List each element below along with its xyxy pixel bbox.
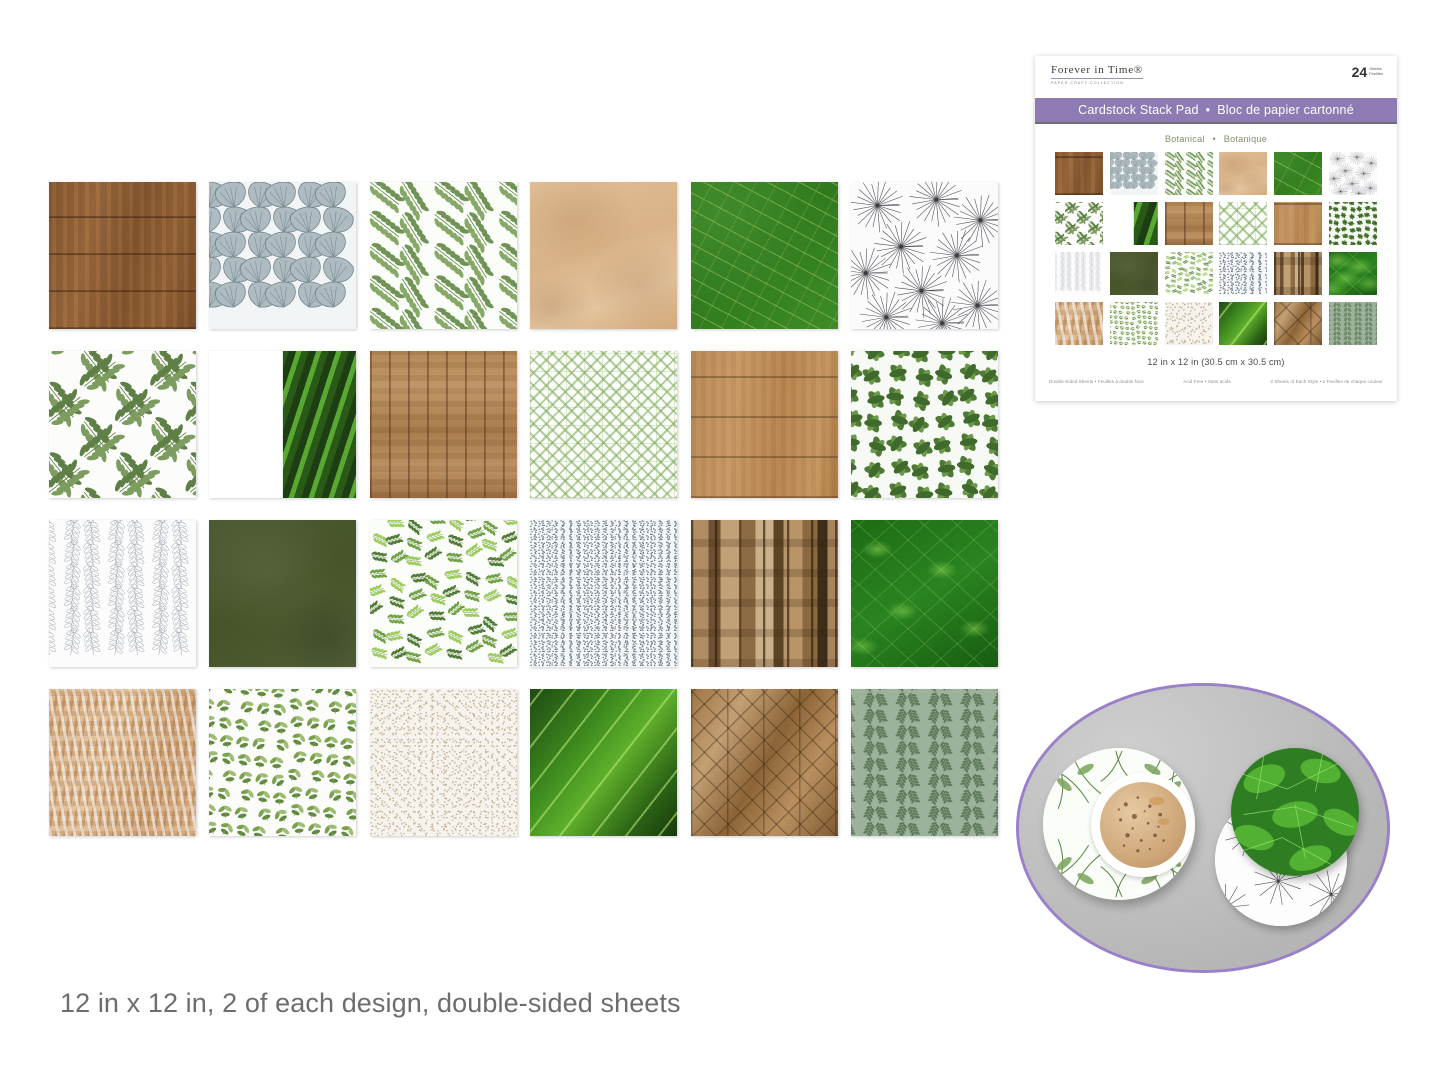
texture-dandelion — [1329, 152, 1377, 195]
botanical-saucer — [1043, 748, 1195, 900]
texture-wood-herring — [691, 689, 838, 836]
package-mini-swatch — [1055, 152, 1103, 195]
paper-swatch — [370, 689, 517, 836]
coffee-bubbles — [1100, 782, 1186, 868]
texture-speck-white — [1219, 252, 1267, 295]
texture-ginkgo — [209, 182, 356, 329]
paper-swatch — [691, 182, 838, 329]
banner-title-en: Cardstock Stack Pad — [1078, 103, 1199, 117]
texture-branches — [370, 182, 517, 329]
theme-en: Botanical — [1165, 134, 1205, 144]
product-package: Forever in Time® PAPER CRAFT COLLECTION … — [1035, 56, 1397, 401]
package-mini-grid — [1055, 152, 1377, 345]
texture-rattan — [1055, 302, 1103, 345]
texture-wood-barn — [1274, 252, 1322, 295]
package-mini-swatch — [1110, 202, 1158, 245]
package-mini-swatch — [1165, 302, 1213, 345]
texture-palm-frond — [209, 351, 356, 498]
texture-dandelion — [851, 182, 998, 329]
paper-swatch — [370, 520, 517, 667]
package-mini-swatch — [1274, 252, 1322, 295]
texture-lineart-grey — [49, 520, 196, 667]
sheet-count-label: SheetsFeuilles — [1369, 65, 1383, 76]
theme-separator: • — [1213, 134, 1216, 144]
footer-double-sided: Double-Sided Sheets • Feuilles à double … — [1049, 379, 1144, 384]
package-mini-swatch — [1055, 302, 1103, 345]
texture-speck-cream — [370, 689, 517, 836]
sheet-count-badge: 24 SheetsFeuilles — [1352, 65, 1383, 79]
texture-palm-frond — [1110, 202, 1158, 245]
package-mini-swatch — [1055, 202, 1103, 245]
paper-swatch — [691, 520, 838, 667]
texture-wood-v — [370, 351, 517, 498]
paper-swatch — [209, 351, 356, 498]
paper-swatch — [851, 689, 998, 836]
banner-separator: • — [1206, 103, 1211, 117]
texture-wood-herring — [1274, 302, 1322, 345]
paper-swatch — [209, 182, 356, 329]
texture-speck-cream — [1165, 302, 1213, 345]
paper-swatch — [530, 182, 677, 329]
paper-swatch — [370, 182, 517, 329]
texture-ginkgo — [1110, 152, 1158, 195]
texture-fern-sprigs — [1165, 252, 1213, 295]
texture-foliage — [1329, 202, 1377, 245]
package-mini-swatch — [1219, 152, 1267, 195]
texture-wood-v — [1165, 202, 1213, 245]
paper-swatch — [209, 689, 356, 836]
paper-swatch — [851, 520, 998, 667]
texture-green-tonal — [851, 520, 998, 667]
package-mini-swatch — [1219, 302, 1267, 345]
texture-damask — [1219, 202, 1267, 245]
paper-swatch — [691, 351, 838, 498]
texture-kraft — [1219, 152, 1267, 195]
texture-green-tonal — [1329, 252, 1377, 295]
texture-leafspot — [1110, 302, 1158, 345]
paper-swatch — [49, 689, 196, 836]
brand-tagline: PAPER CRAFT COLLECTION — [1051, 81, 1143, 85]
paper-swatch — [49, 351, 196, 498]
texture-wood-h-dark — [1055, 152, 1103, 195]
package-mini-swatch — [1329, 302, 1377, 345]
paper-swatch — [370, 351, 517, 498]
texture-leaf-macro — [1274, 152, 1322, 195]
coffee-cup — [1091, 773, 1195, 877]
texture-rattan — [49, 689, 196, 836]
texture-leafspot — [209, 689, 356, 836]
package-size-text: 12 in x 12 in (30.5 cm x 30.5 cm) — [1035, 357, 1397, 367]
texture-lineart-grey — [1055, 252, 1103, 295]
package-mini-swatch — [1274, 202, 1322, 245]
package-mini-swatch — [1219, 202, 1267, 245]
texture-sprigs — [49, 351, 196, 498]
package-mini-swatch — [1055, 252, 1103, 295]
texture-wood-barn — [691, 520, 838, 667]
texture-sage-fern — [1329, 302, 1377, 345]
theme-fr: Botanique — [1224, 134, 1267, 144]
texture-fern-sprigs — [370, 520, 517, 667]
texture-speck-white — [530, 520, 677, 667]
brand-logo: Forever in Time® PAPER CRAFT COLLECTION — [1051, 64, 1143, 85]
texture-leaf-blade — [1219, 302, 1267, 345]
footer-sheets-each: 2 Sheets of Each Style • 2 Feuilles de c… — [1271, 379, 1384, 384]
package-mini-swatch — [1165, 202, 1213, 245]
package-mini-swatch — [1165, 152, 1213, 195]
paper-swatch — [49, 182, 196, 329]
paper-swatch — [530, 520, 677, 667]
package-mini-swatch — [1274, 152, 1322, 195]
cup-handle — [1129, 896, 1157, 900]
package-mini-swatch — [1219, 252, 1267, 295]
texture-olive-solid — [209, 520, 356, 667]
texture-foliage — [851, 351, 998, 498]
package-theme: Botanical • Botanique — [1035, 124, 1397, 152]
paper-swatch — [691, 689, 838, 836]
texture-branches — [1165, 152, 1213, 195]
package-mini-swatch — [1329, 152, 1377, 195]
texture-wood-h-light — [691, 351, 838, 498]
texture-kraft — [530, 182, 677, 329]
paper-swatch — [209, 520, 356, 667]
paper-swatch — [530, 689, 677, 836]
coffee-crema — [1100, 782, 1186, 868]
texture-leaf-blade — [530, 689, 677, 836]
paper-swatch — [530, 351, 677, 498]
logo-rule — [1051, 78, 1143, 79]
banner-title-fr: Bloc de papier cartonné — [1217, 103, 1354, 117]
package-mini-swatch — [1329, 252, 1377, 295]
green-leaf-coaster — [1231, 748, 1359, 876]
footer-acid-free: Acid Free • Sans acide — [1183, 379, 1231, 384]
package-mini-swatch — [1110, 252, 1158, 295]
green-leaf-pattern — [1231, 748, 1359, 876]
package-title-banner: Cardstock Stack Pad • Bloc de papier car… — [1035, 98, 1397, 124]
texture-sprigs — [1055, 202, 1103, 245]
package-mini-swatch — [1110, 152, 1158, 195]
paper-swatch — [851, 182, 998, 329]
lifestyle-photo — [1016, 683, 1390, 973]
swatch-grid — [49, 182, 998, 836]
texture-sage-fern — [851, 689, 998, 836]
package-footer: Double-Sided Sheets • Feuilles à double … — [1035, 367, 1397, 384]
texture-leaf-macro — [691, 182, 838, 329]
texture-wood-h-dark — [49, 182, 196, 329]
package-mini-swatch — [1329, 202, 1377, 245]
texture-wood-h-light — [1274, 202, 1322, 245]
texture-damask — [530, 351, 677, 498]
paper-swatch — [851, 351, 998, 498]
package-mini-swatch — [1274, 302, 1322, 345]
paper-swatch — [49, 520, 196, 667]
brand-name: Forever in Time® — [1051, 64, 1143, 76]
product-caption: 12 in x 12 in, 2 of each design, double-… — [60, 988, 681, 1019]
package-mini-swatch — [1165, 252, 1213, 295]
texture-olive-solid — [1110, 252, 1158, 295]
sheet-count-number: 24 — [1352, 65, 1368, 79]
package-header: Forever in Time® PAPER CRAFT COLLECTION … — [1035, 56, 1397, 98]
package-mini-swatch — [1110, 302, 1158, 345]
